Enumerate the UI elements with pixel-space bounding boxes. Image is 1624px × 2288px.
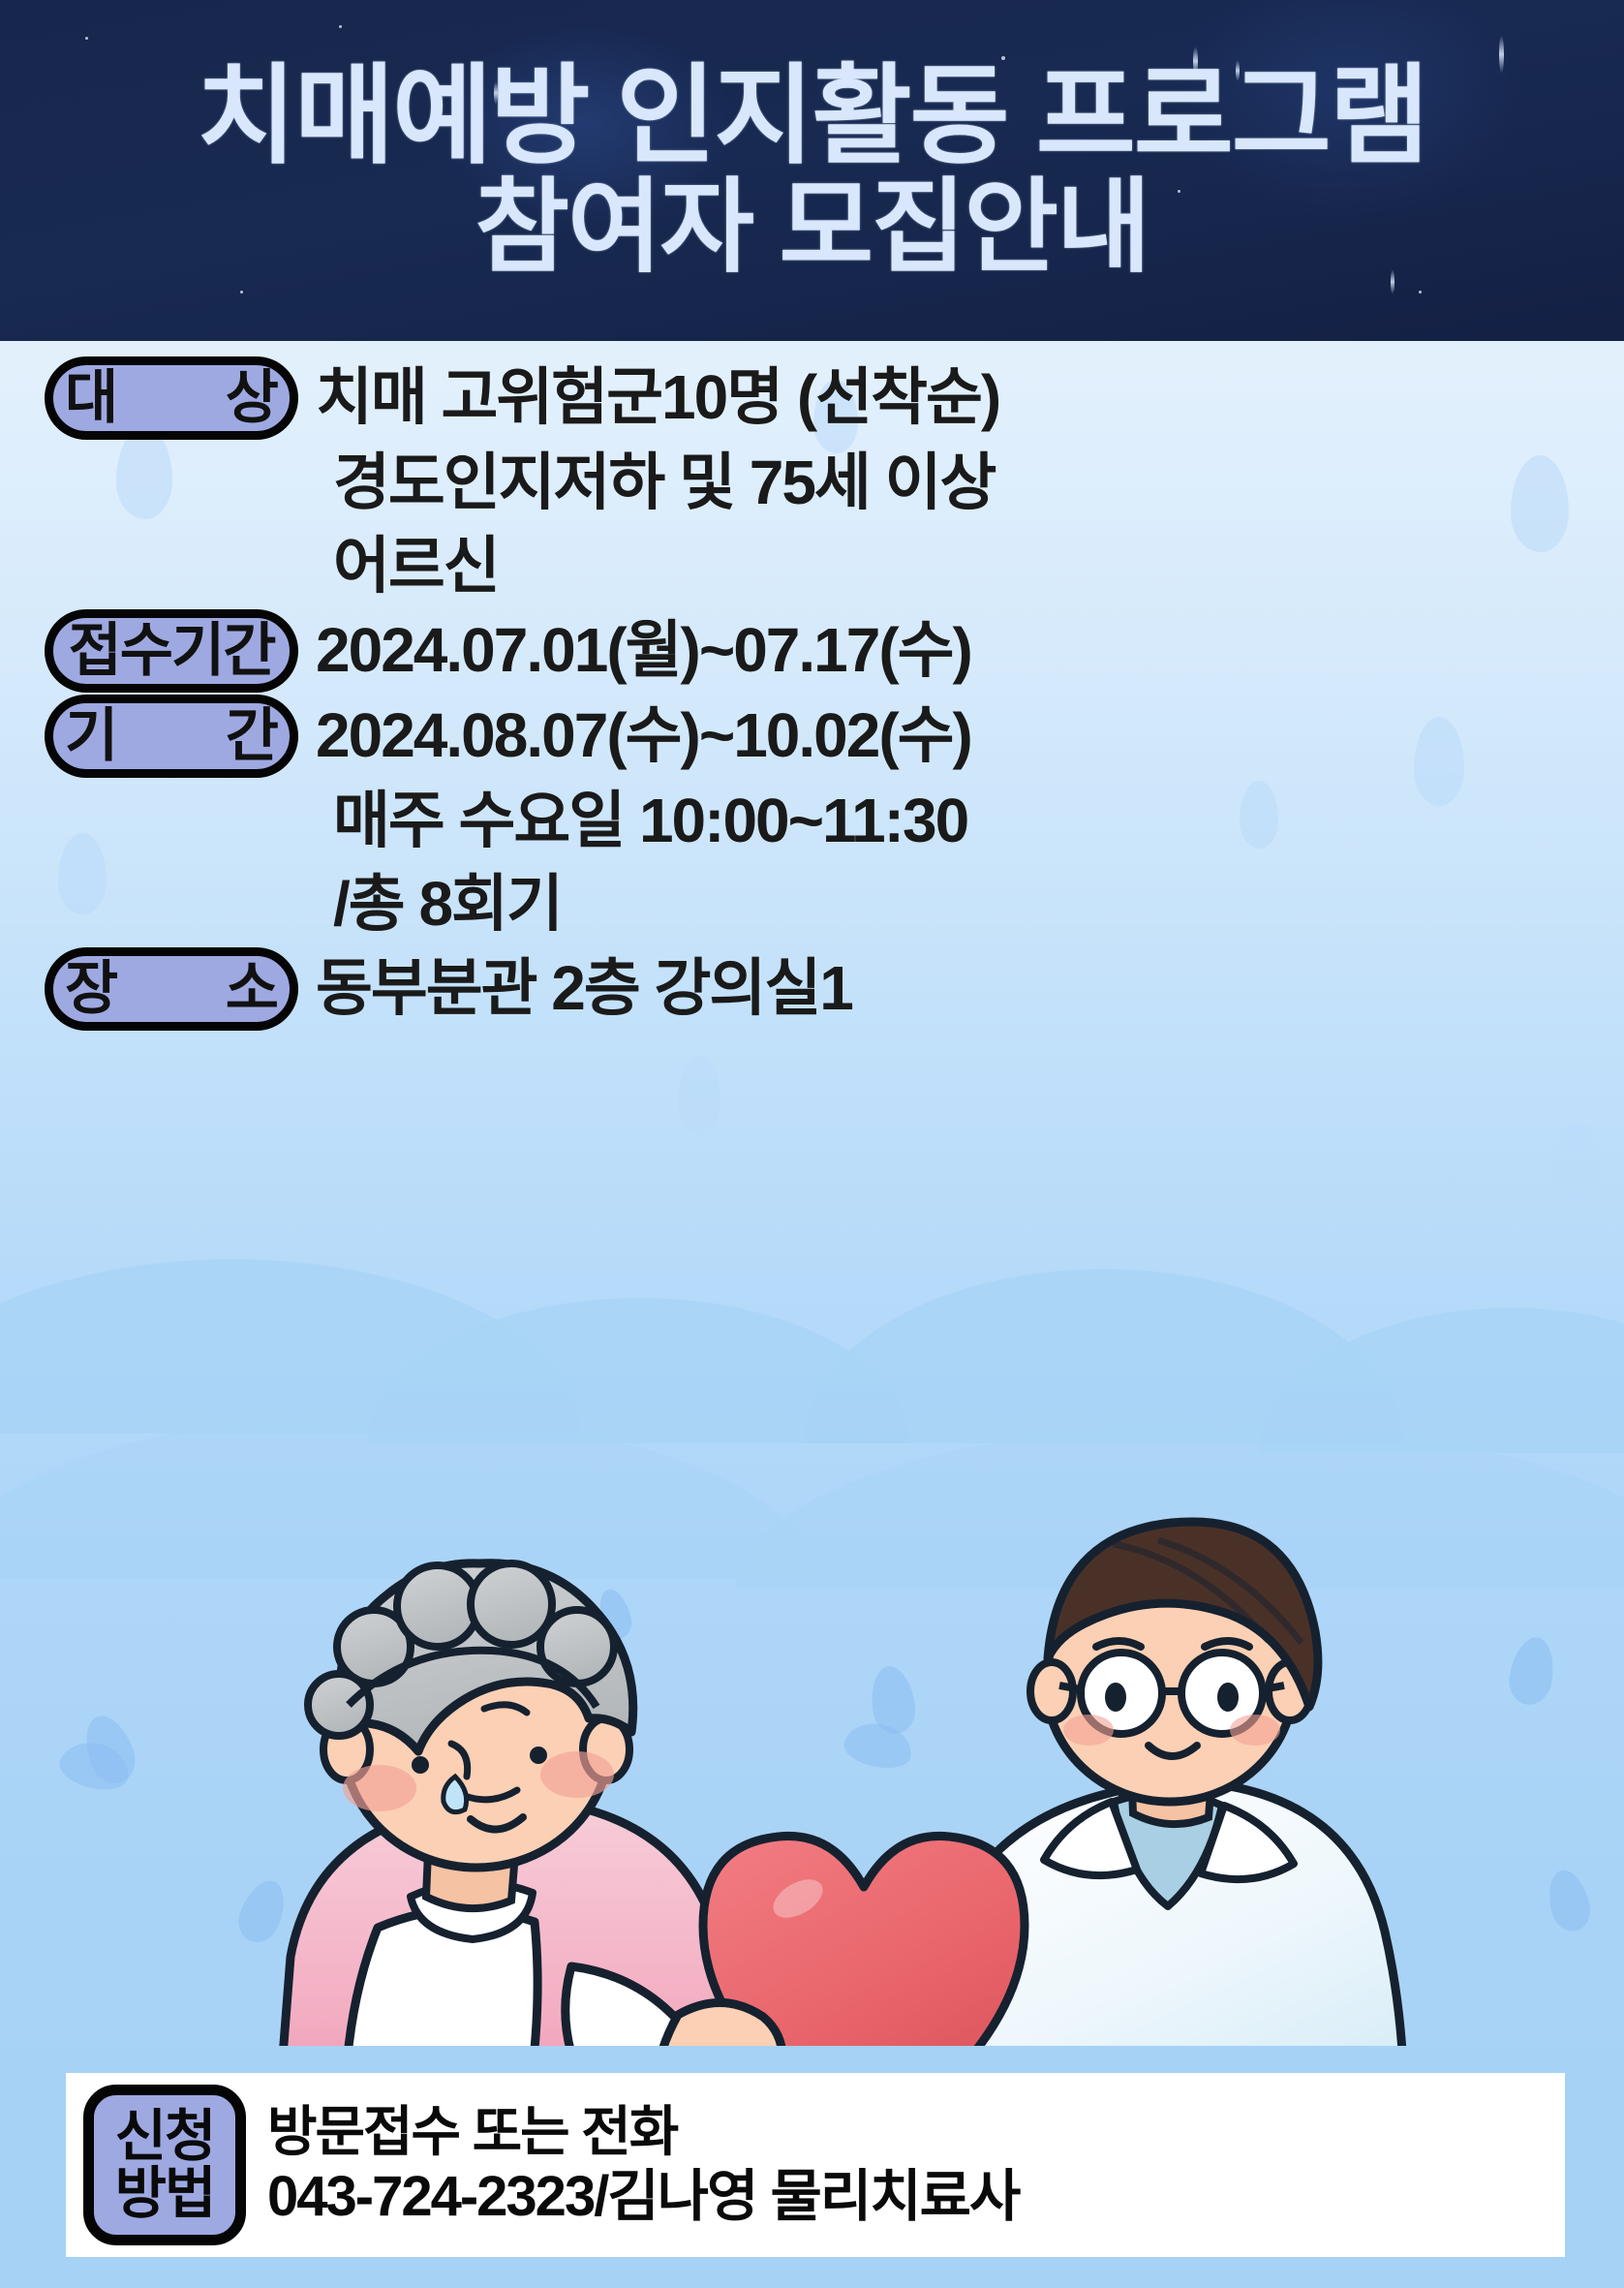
row-value-program-period: 2024.08.07(수)~10.02(수) [298,695,1594,776]
badge-char: 접 [69,622,120,680]
senior-blush-left [343,1765,416,1811]
illustration-senior-and-doctor [0,1511,1624,2131]
badge-char: 장 [65,960,117,1018]
senior-blush-right [540,1751,614,1798]
footer-content: 신청 방법 방문접수 또는 전화 043-724-2323/김나영 물리치료사 [66,2073,1565,2257]
row-value-place: 동부분관 2층 강의실1 [298,947,1594,1029]
row-value-target: 치매 고위험군10명 (선착순) [298,356,1594,438]
decor-blob [1553,1124,1600,1205]
row-cont-target-1: 경도인지저하 및 75세 이상 [45,442,1594,523]
senior-hair-curl [397,1565,478,1647]
footer-badge-line-1: 신청 [115,2108,215,2165]
row-label-badge-target: 대 상 [45,356,298,440]
senior-hair-curl [540,1610,614,1684]
doctor-glasses-arm [1263,1685,1284,1689]
info-row-application-period: 접 수 기 간 2024.07.01(월)~07.17(수) [45,609,1594,693]
doctor-glasses-arm [1059,1685,1081,1689]
badge-char: 상 [226,369,278,427]
badge-char: 수 [120,622,171,680]
decor-blob [678,1056,720,1133]
illustration-svg [0,1511,1624,2131]
row-label-badge-program-period: 기 간 [45,695,298,778]
footer-badge-line-2: 방법 [115,2165,215,2222]
doctor-eye-right [1217,1683,1239,1712]
badge-char: 간 [226,707,278,765]
footer-line-contact: 043-724-2323/김나영 물리치료사 [267,2165,1019,2229]
doctor-ear-left [1030,1662,1073,1720]
doctor-blush-left [1063,1715,1114,1746]
badge-char: 간 [223,622,274,680]
row-cont-target-2: 어르신 [45,525,1594,606]
doctor-eye-left [1105,1683,1126,1712]
senior-hair-curl [308,1674,370,1736]
senior-eye-right [530,1747,547,1764]
doctor-figure [949,1522,1404,2131]
badge-char: 기 [171,622,223,680]
info-row-target: 대 상 치매 고위험군10명 (선착순) [45,356,1594,440]
footer-line-method: 방문접수 또는 전화 [267,2101,1019,2163]
poster-title-line-2: 참여자 모집안내 [475,176,1149,279]
footer-label-badge-application-method: 신청 방법 [83,2085,246,2245]
doctor-blush-right [1230,1715,1280,1746]
poster-canvas: 치매예방 인지활동 프로그램 참여자 모집안내 대 상 치매 고위험군10명 (… [0,0,1624,2288]
badge-char: 기 [65,707,117,765]
badge-char: 소 [226,960,278,1018]
info-row-program-period: 기 간 2024.08.07(수)~10.02(수) [45,695,1594,778]
poster-title-line-1: 치매예방 인지활동 프로그램 [197,62,1427,170]
row-cont-program-period-2: /총 8회기 [45,863,1594,944]
row-cont-program-period-1: 매주 수요일 10:00~11:30 [45,780,1594,861]
row-value-application-period: 2024.07.01(월)~07.17(수) [298,609,1594,691]
info-row-place: 장 소 동부분관 2층 강의실1 [45,947,1594,1031]
row-label-badge-application-period: 접 수 기 간 [45,609,298,693]
badge-char: 대 [65,369,117,427]
senior-eye-left [412,1756,429,1774]
poster-header: 치매예방 인지활동 프로그램 참여자 모집안내 [0,0,1624,341]
info-list: 대 상 치매 고위험군10명 (선착순) 경도인지저하 및 75세 이상 어르신… [45,356,1594,1033]
poster-title-block: 치매예방 인지활동 프로그램 참여자 모집안내 [0,0,1624,341]
row-label-badge-place: 장 소 [45,947,298,1031]
footer-text-block: 방문접수 또는 전화 043-724-2323/김나영 물리치료사 [267,2101,1019,2229]
